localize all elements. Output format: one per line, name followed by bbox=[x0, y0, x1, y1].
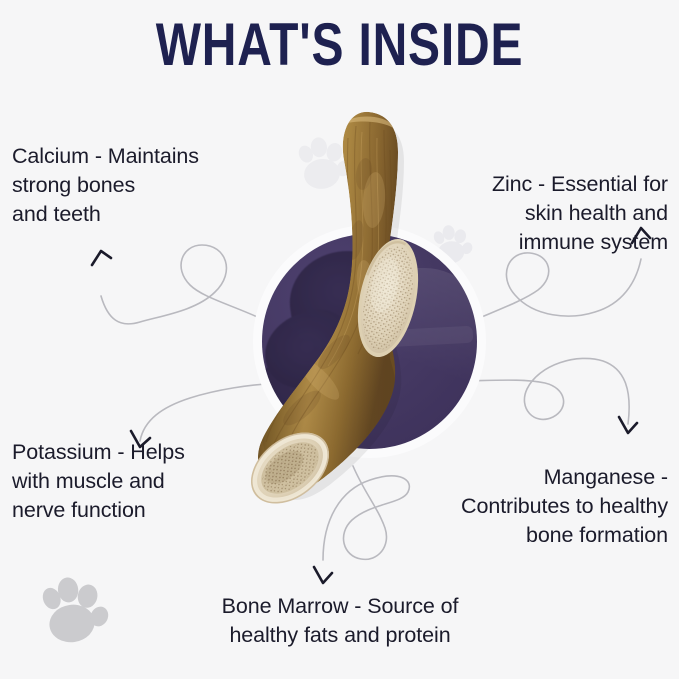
product-circle-group bbox=[262, 234, 477, 449]
arrowhead-manganese bbox=[619, 417, 637, 433]
callout-potassium: Potassium - Helps with muscle and nerve … bbox=[12, 438, 277, 525]
connector-line-calcium bbox=[101, 245, 281, 329]
callout-bone-marrow: Bone Marrow - Source of healthy fats and… bbox=[150, 592, 530, 650]
callout-zinc: Zinc - Essential for skin health and imm… bbox=[396, 170, 668, 257]
arrowhead-calcium bbox=[92, 251, 111, 265]
page-title: WHAT'S INSIDE bbox=[68, 14, 611, 76]
purple-photo-circle bbox=[262, 234, 477, 449]
paw-watermark-top-icon bbox=[296, 137, 353, 192]
callout-manganese: Manganese - Contributes to healthy bone … bbox=[388, 463, 668, 550]
infographic-canvas: WHAT'S INSIDE bbox=[0, 0, 679, 679]
paw-bottom-left-icon bbox=[40, 576, 112, 645]
callout-calcium: Calcium - Maintains strong bones and tee… bbox=[12, 142, 282, 229]
arrowhead-bone-marrow bbox=[314, 567, 332, 583]
